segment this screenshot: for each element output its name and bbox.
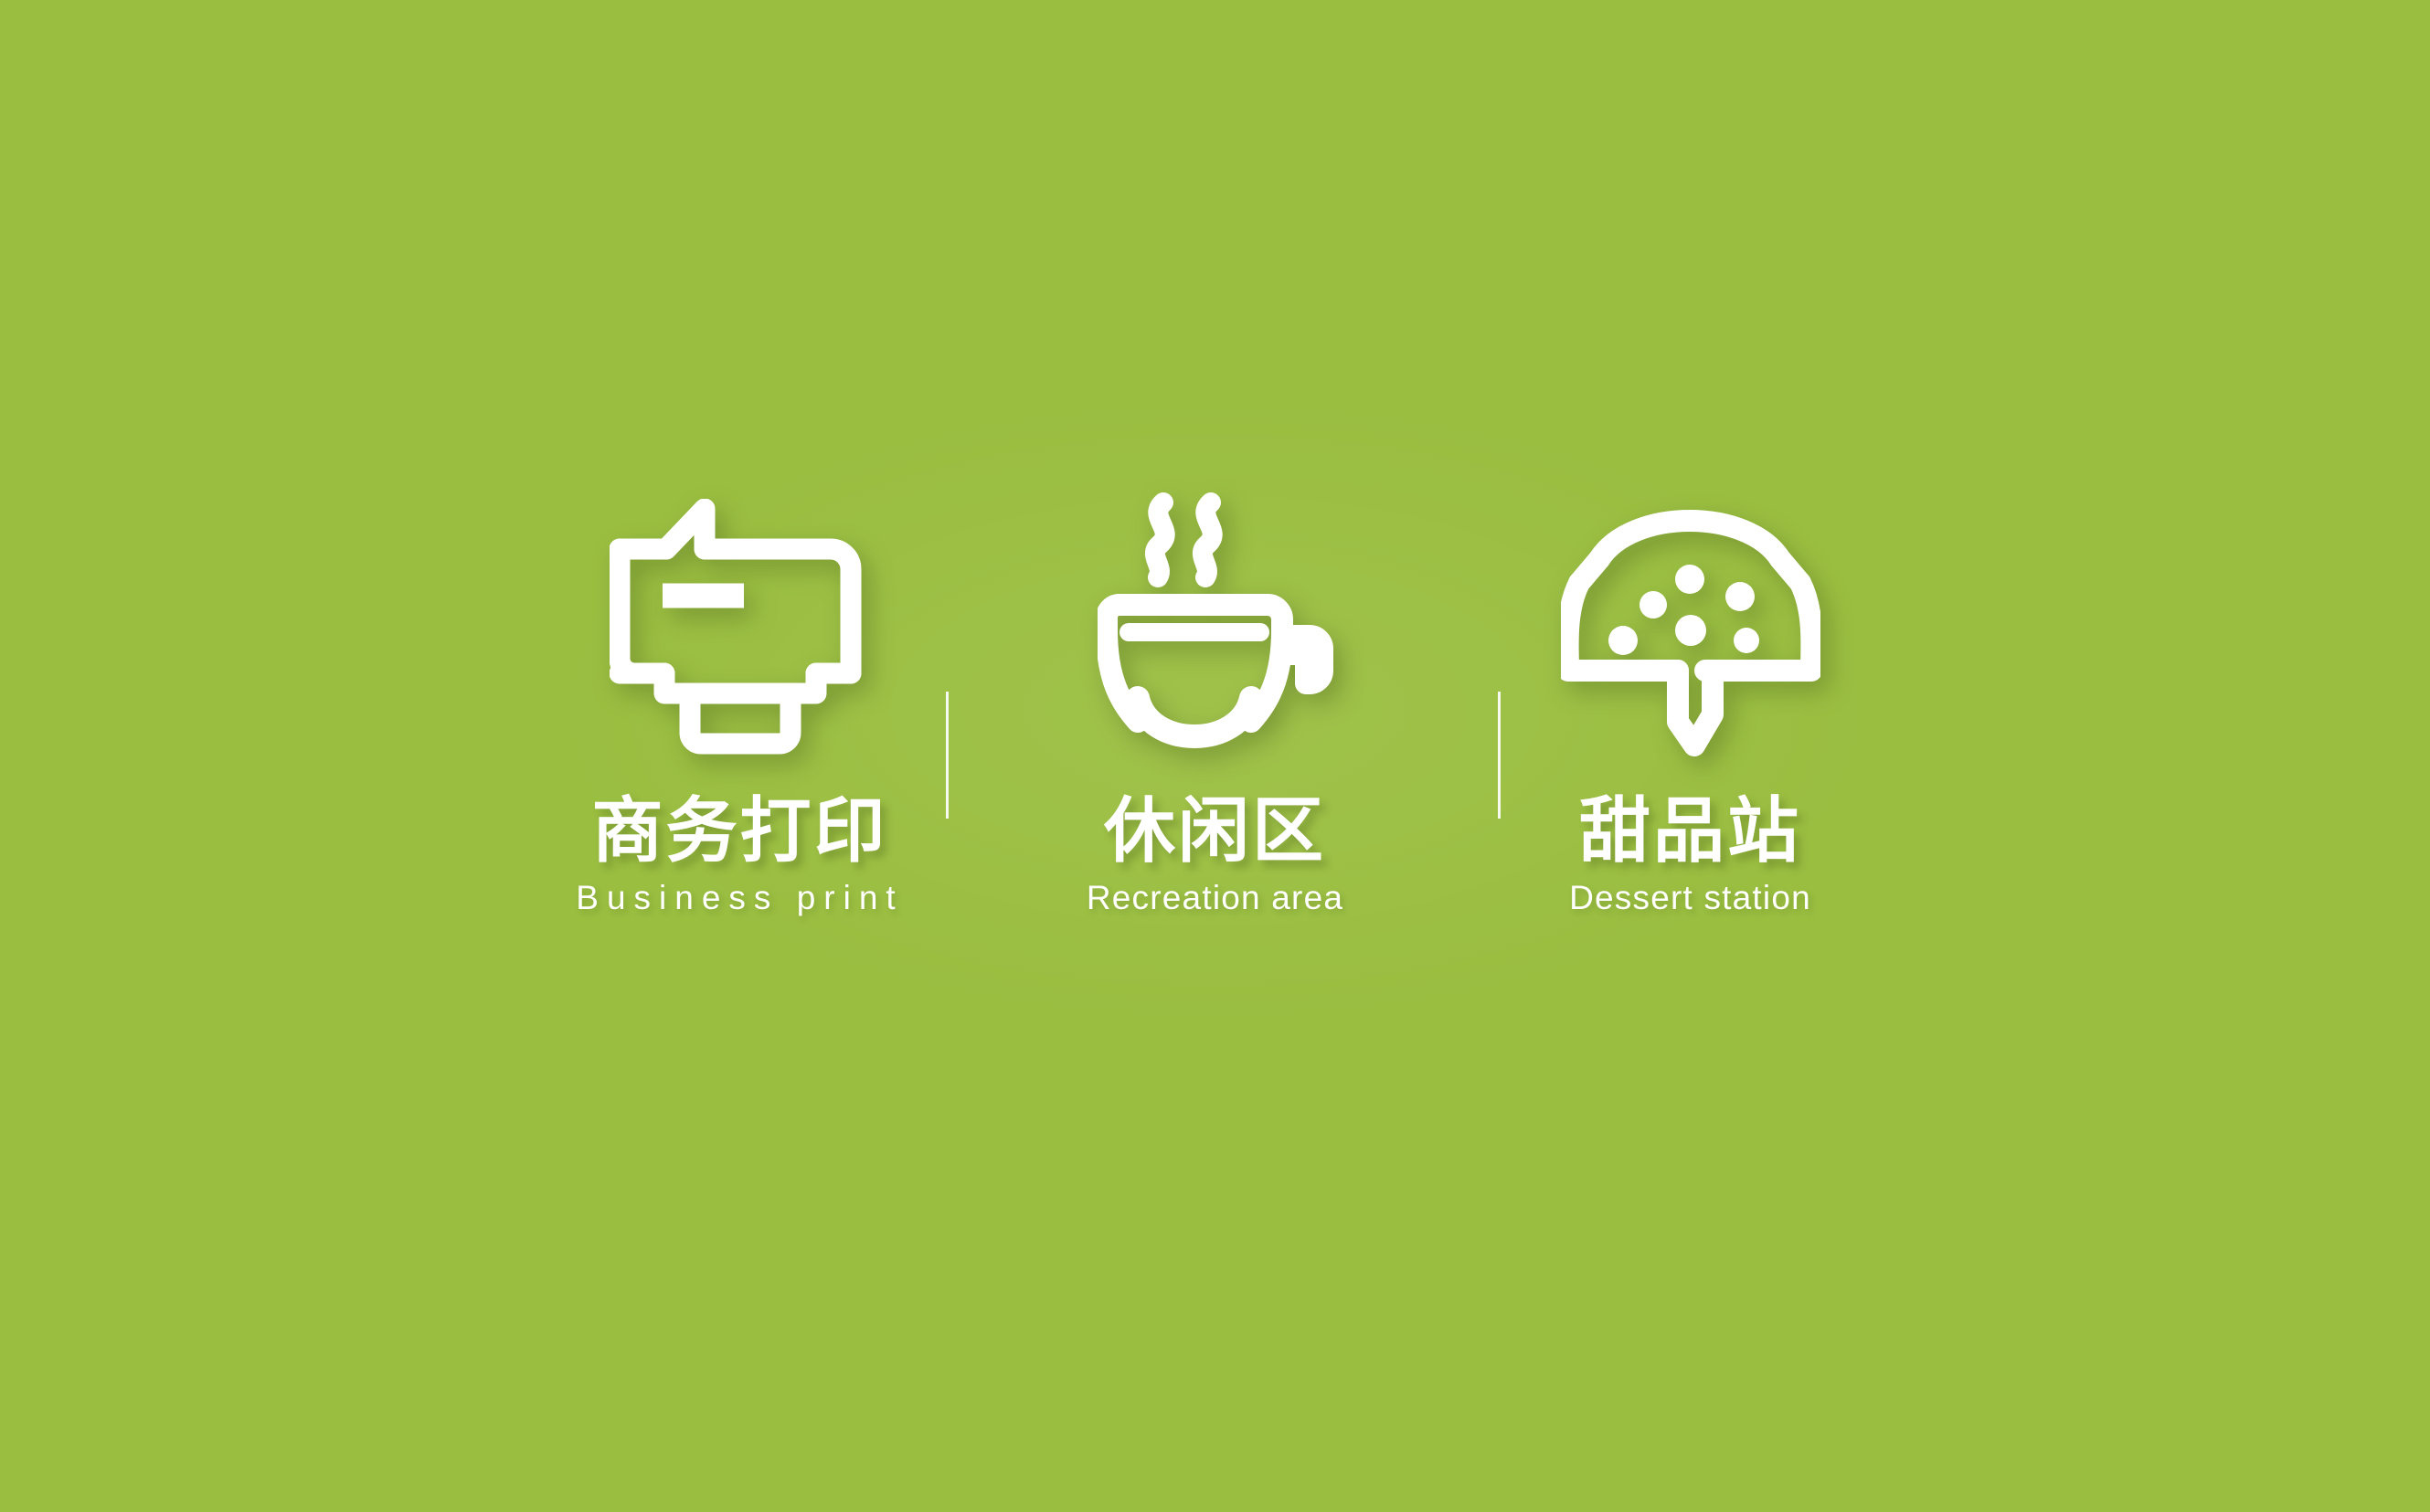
dome-cap-arch (1599, 521, 1780, 559)
icon-group-band: 商务打印 Business print (0, 0, 2430, 1512)
group-label-en: Dessert station (1569, 881, 1811, 915)
dome-right-body (1705, 583, 1811, 671)
group-label-cn: 商务打印 (591, 795, 887, 866)
group-recreation-area[interactable]: 休闲区 Recreation area (978, 409, 1453, 1104)
group-business-print[interactable]: 商务打印 Business print (503, 409, 978, 1104)
coffee-cup-icon-wrap (1098, 409, 1333, 766)
group-dessert-station[interactable]: 甜品站 Dessert station (1453, 409, 1928, 1104)
group-label-cn: 休闲区 (1104, 795, 1326, 866)
cup-handle (1286, 636, 1322, 683)
coffee-cup-icon (1098, 492, 1333, 766)
dessert-dome-icon (1561, 492, 1820, 766)
cup-smile (1138, 698, 1251, 736)
dessert-dome-icon-wrap (1561, 409, 1820, 766)
group-label-en: Business print (576, 881, 903, 915)
group-divider-2 (1498, 692, 1501, 819)
steam-left (1154, 502, 1164, 577)
group-label-en: Recreation area (1087, 881, 1343, 915)
dessert-sprinkles (1608, 565, 1759, 655)
printer-icon (610, 499, 871, 766)
steam-right (1202, 502, 1212, 577)
group-label-cn: 甜品站 (1579, 795, 1801, 866)
printer-icon-wrap (610, 409, 871, 766)
group-divider-1 (946, 692, 949, 819)
poster-canvas: 商务打印 Business print (0, 0, 2430, 1512)
dome-tail (1678, 671, 1713, 745)
